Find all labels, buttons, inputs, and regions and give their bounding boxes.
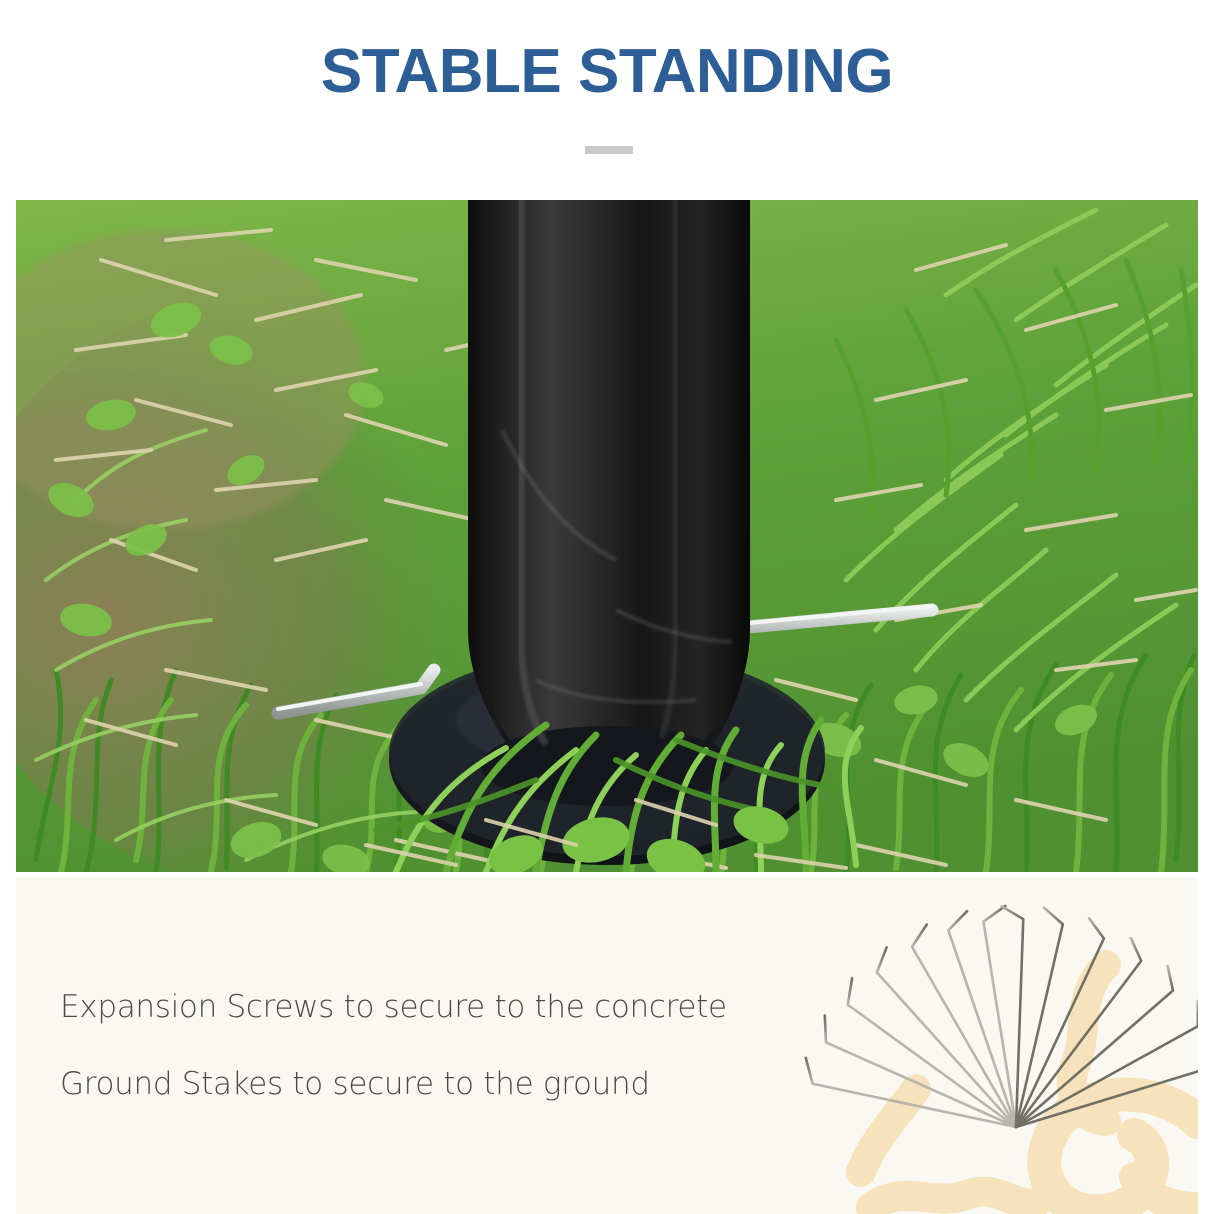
title-divider (585, 146, 633, 154)
photo-black-post (468, 200, 750, 756)
feature-text-block: Expansion Screws to secure to the concre… (60, 969, 880, 1123)
feature-line-expansion-screws: Expansion Screws to secure to the concre… (60, 969, 880, 1046)
page-title: STABLE STANDING (0, 40, 1214, 104)
product-feature-page: STABLE STANDING (0, 0, 1214, 1214)
feature-line-ground-stakes: Ground Stakes to secure to the ground (60, 1046, 880, 1123)
info-panel: Expansion Screws to secure to the concre… (16, 877, 1198, 1214)
tan-swirl-graphic (861, 965, 1198, 1211)
post-base-in-grass-illustration (16, 200, 1198, 872)
product-photo (16, 200, 1198, 872)
